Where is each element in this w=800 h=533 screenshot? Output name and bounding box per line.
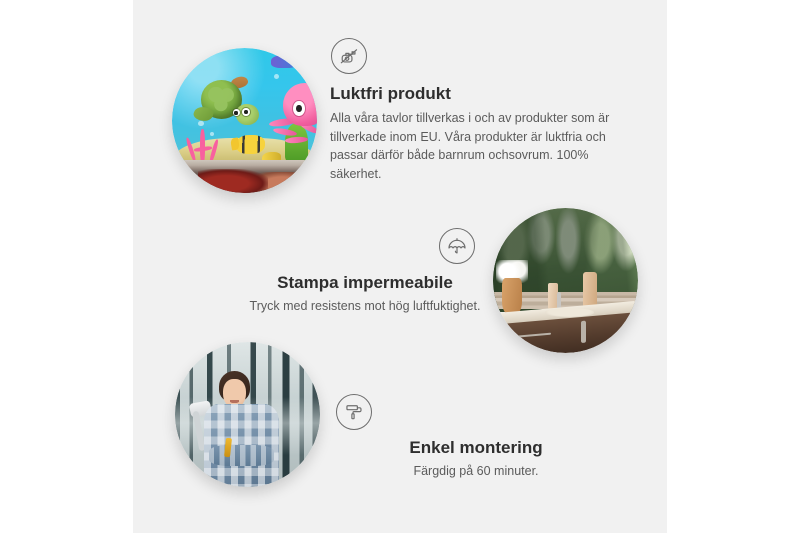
feature-title: Stampa impermeabile xyxy=(209,272,521,293)
paint-roller-icon xyxy=(336,394,372,430)
content-stage: Luktfri produkt Alla våra tavlor tillver… xyxy=(133,0,667,533)
blue-fish xyxy=(271,55,300,68)
sink-basin xyxy=(545,308,594,317)
feature-description: Alla våra tavlor tillverkas i och av pro… xyxy=(330,109,622,183)
no-spray-bottle-icon xyxy=(331,38,367,74)
page-root: Luktfri produkt Alla våra tavlor tillver… xyxy=(0,0,800,533)
sea-turtle xyxy=(192,80,256,132)
umbrella-icon xyxy=(439,228,475,264)
woman-paint-roller-forest-medallion xyxy=(175,342,320,487)
yellow-striped-fish xyxy=(236,135,265,154)
feature-odor-free: Luktfri produkt Alla våra tavlor tillver… xyxy=(330,38,622,183)
feature-description: Färgdig på 60 minuter. xyxy=(330,462,622,481)
feature-title: Luktfri produkt xyxy=(330,83,622,104)
feature-description: Tryck med resistens mot hög luftfuktighe… xyxy=(209,297,521,316)
medallion-photo xyxy=(172,48,317,193)
feature-waterproof-print: Stampa impermeabile Tryck med resistens … xyxy=(209,228,521,316)
bubble xyxy=(274,74,279,79)
underwater-cartoon-mural-medallion xyxy=(172,48,317,193)
woman-with-paint-roller xyxy=(201,371,282,487)
room-interior-strip xyxy=(172,160,317,193)
feature-easy-mounting: Enkel montering Färgdig på 60 minuter. xyxy=(330,394,622,481)
pink-octopus xyxy=(268,83,317,153)
medallion-photo xyxy=(175,342,320,487)
feature-title: Enkel montering xyxy=(330,437,622,458)
